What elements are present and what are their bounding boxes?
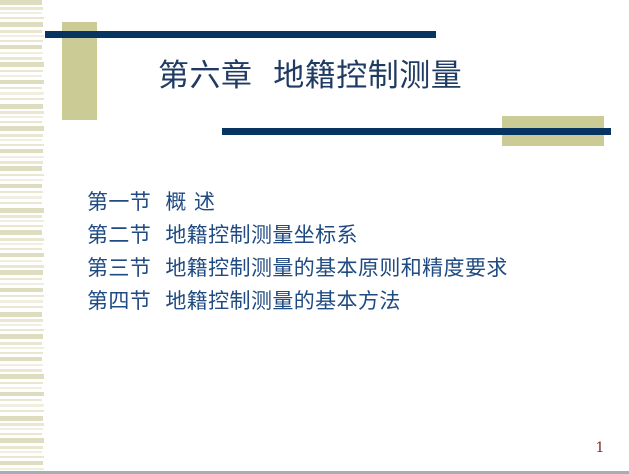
list-item: 第二节 地籍控制测量坐标系 — [87, 219, 508, 252]
left-stripe-decoration — [0, 0, 44, 474]
list-item: 第四节 地籍控制测量的基本方法 — [87, 285, 508, 318]
presentation-slide: 第六章 地籍控制测量 第一节 概 述 第二节 地籍控制测量坐标系 第三节 地籍控… — [0, 0, 629, 474]
list-item: 第一节 概 述 — [87, 186, 508, 219]
navy-bar-bottom — [222, 128, 611, 135]
slide-title: 第六章 地籍控制测量 — [158, 56, 462, 96]
section-list: 第一节 概 述 第二节 地籍控制测量坐标系 第三节 地籍控制测量的基本原则和精度… — [87, 186, 508, 318]
navy-bar-top — [45, 31, 436, 38]
page-number: 1 — [592, 440, 608, 456]
list-item: 第三节 地籍控制测量的基本原则和精度要求 — [87, 252, 508, 285]
